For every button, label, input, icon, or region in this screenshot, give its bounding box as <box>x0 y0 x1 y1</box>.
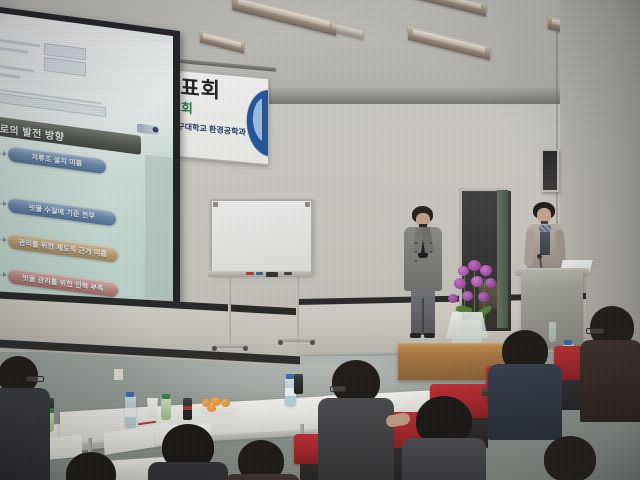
orchid-bloom-5 <box>471 276 483 287</box>
audience-member-4 <box>318 360 394 480</box>
tangerine-3 <box>221 399 230 407</box>
projection-screen-surface: 으로의 발전 방향 저류조 설치 미흡 빗물 수질에 기준 전무 관리를 위한 … <box>0 11 173 322</box>
whiteboard-marker-blue <box>256 272 263 275</box>
orchid-bloom-1 <box>458 266 469 276</box>
slide-node-3: 관리를 위한 제도적 근거 미흡 <box>8 233 118 263</box>
presenter-scarf <box>539 225 551 232</box>
audience-8-head <box>544 436 596 480</box>
audience-6-body <box>488 364 562 440</box>
whiteboard-caster-1 <box>212 346 217 351</box>
person1-button-3 <box>415 260 417 262</box>
person1-button-5 <box>430 251 432 253</box>
water-bottle-3-cap <box>564 340 572 345</box>
orchid-bloom-7 <box>462 291 473 301</box>
green-bottle-cap <box>162 394 170 399</box>
slide-connector-arrow-4 <box>3 271 7 278</box>
audience-member-2 <box>150 424 228 480</box>
orchid-bloom-9 <box>448 294 458 303</box>
audience-2-body <box>148 462 228 480</box>
whiteboard-corner-tr <box>305 202 310 207</box>
audience-1-body <box>0 388 50 480</box>
beverage-can-3 <box>294 374 303 394</box>
orchid-bloom-3 <box>480 265 492 276</box>
person-grey-coat <box>403 206 445 340</box>
whiteboard-marker-red <box>246 272 254 275</box>
audience-member-7 <box>580 306 640 416</box>
audience-7-body <box>580 340 640 422</box>
presenter-at-podium <box>525 202 567 274</box>
photo-scene: 발표회 표회 대구대학교 환경공학과 으로의 발전 방향 <box>0 0 640 480</box>
audience-member-5 <box>400 396 486 480</box>
person1-shoe-right <box>424 333 435 338</box>
whiteboard-marker-black <box>284 272 292 275</box>
banner-swoosh-light-icon <box>216 78 262 156</box>
person1-button-4 <box>430 242 432 244</box>
audience-member-3 <box>228 440 298 480</box>
orchid-bloom-8 <box>478 292 489 302</box>
wall-outlet <box>113 368 124 381</box>
orchid-bloom-6 <box>485 278 496 288</box>
slide-right-panel <box>145 154 173 322</box>
whiteboard <box>210 199 313 275</box>
audience-member-9 <box>60 452 130 480</box>
water-bottle-1-label <box>125 408 136 417</box>
slide-node-2: 빗물 수질에 기준 전무 <box>8 197 116 226</box>
audience-5-body <box>402 438 486 480</box>
person1-leg-separation <box>422 298 424 334</box>
audience-9-head <box>66 452 116 480</box>
slide-connector-arrow-3 <box>3 236 7 243</box>
audience-member-6 <box>492 330 564 434</box>
slide-connector-arrow-2 <box>3 200 7 207</box>
green-bottle <box>161 398 171 420</box>
person1-button-1 <box>415 242 417 244</box>
whiteboard-caster-2 <box>243 346 248 351</box>
audience-1-glasses-icon <box>26 376 44 382</box>
whiteboard-eraser <box>266 272 278 277</box>
person1-button-2 <box>415 251 417 253</box>
whiteboard-corner-tl <box>213 202 218 207</box>
audience-4-body <box>318 398 394 480</box>
water-bottle-2-cap <box>286 374 294 379</box>
person1-shoe-left <box>410 333 421 338</box>
beverage-can-1-stripe <box>183 406 192 410</box>
slide-connector-arrow-1 <box>3 150 7 157</box>
whiteboard-caster-4 <box>310 340 315 345</box>
audience-member-8 <box>536 436 610 480</box>
projection-screen: 으로의 발전 방향 저류조 설치 미흡 빗물 수질에 기준 전무 관리를 위한 … <box>0 5 180 331</box>
audience-3-body <box>224 474 300 480</box>
whiteboard-caster-3 <box>278 340 283 345</box>
wall-speaker-icon <box>541 149 559 192</box>
water-bottle-1-cap <box>126 392 134 397</box>
audience-member-1 <box>0 356 56 480</box>
whiteboard-leg-left <box>228 268 231 346</box>
audience-4-glasses-icon <box>330 386 346 392</box>
tangerine-4 <box>207 405 216 412</box>
orchid-bloom-4 <box>454 278 466 289</box>
audience-7-glasses-icon <box>586 328 604 334</box>
